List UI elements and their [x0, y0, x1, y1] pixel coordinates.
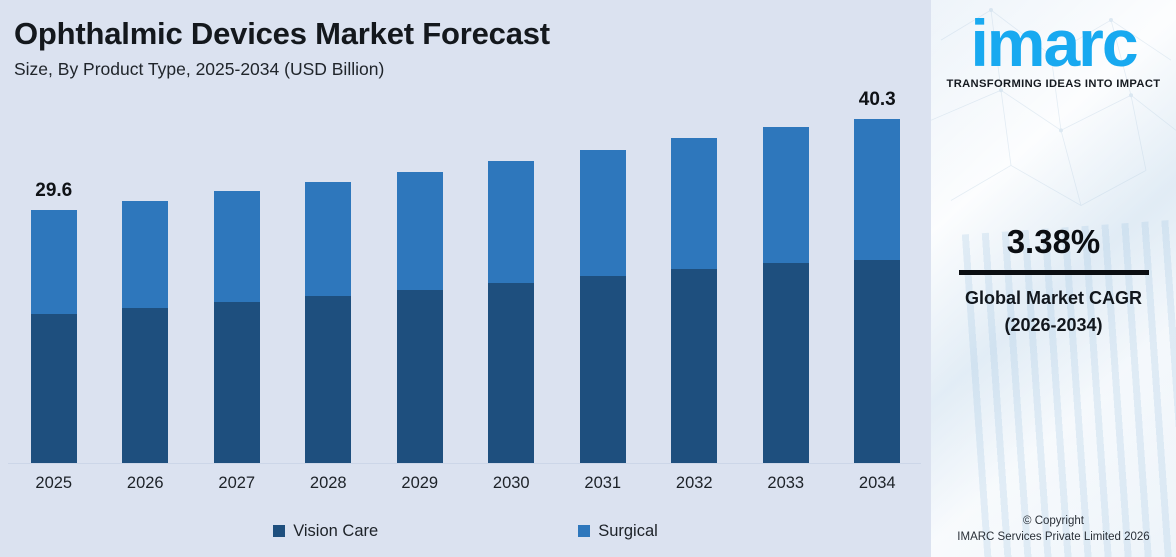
bar-segment-surgical[interactable]: [31, 210, 77, 314]
chart-title: Ophthalmic Devices Market Forecast: [14, 14, 904, 54]
bar-segment-surgical[interactable]: [214, 191, 260, 302]
bar-segment-vision-care[interactable]: [397, 290, 443, 463]
bar-value-label: 40.3: [859, 89, 896, 111]
bar-segment-vision-care[interactable]: [671, 269, 717, 463]
bar-segment-vision-care[interactable]: [580, 276, 626, 463]
bar-slot: [740, 100, 832, 463]
bar-slot: [466, 100, 558, 463]
legend-swatch-icon: [578, 525, 590, 537]
logo-tagline: TRANSFORMING IDEAS INTO IMPACT: [931, 76, 1176, 92]
cagr-callout: 3.38% Global Market CAGR (2026-2034): [931, 222, 1176, 339]
bar-segment-vision-care[interactable]: [488, 283, 534, 463]
legend-swatch-icon: [273, 525, 285, 537]
bar-segment-surgical[interactable]: [397, 172, 443, 290]
bar-group: 29.640.3: [0, 100, 931, 463]
bar-slot: [374, 100, 466, 463]
bar-stack[interactable]: [397, 172, 443, 463]
bar-segment-vision-care[interactable]: [763, 263, 809, 463]
x-axis-tick-2032: 2032: [649, 468, 741, 498]
bar-slot: [283, 100, 375, 463]
plot-area: 29.640.3: [0, 100, 931, 464]
cagr-divider: [959, 270, 1149, 275]
bar-segment-vision-care[interactable]: [854, 260, 900, 463]
x-axis-tick-2031: 2031: [557, 468, 649, 498]
bar-stack[interactable]: [122, 201, 168, 463]
logo-wordmark: imarc: [931, 6, 1176, 80]
bar-slot: 40.3: [832, 100, 924, 463]
bar-segment-surgical[interactable]: [488, 161, 534, 283]
bar-segment-vision-care[interactable]: [305, 296, 351, 463]
chart-header: Ophthalmic Devices Market Forecast Size,…: [14, 14, 904, 82]
bar-segment-surgical[interactable]: [122, 201, 168, 309]
legend-label: Surgical: [598, 522, 658, 541]
bar-slot: [557, 100, 649, 463]
x-axis-tick-2025: 2025: [8, 468, 100, 498]
x-axis-tick-2033: 2033: [740, 468, 832, 498]
bar-stack[interactable]: [854, 119, 900, 463]
bar-stack[interactable]: [305, 182, 351, 463]
x-axis-tick-2028: 2028: [283, 468, 375, 498]
bar-slot: [649, 100, 741, 463]
bar-stack[interactable]: [763, 127, 809, 463]
legend-item-vision-care[interactable]: Vision Care: [273, 516, 378, 546]
copyright-line1: © Copyright: [931, 513, 1176, 529]
x-axis-tick-2034: 2034: [832, 468, 924, 498]
x-axis-tick-2029: 2029: [374, 468, 466, 498]
imarc-logo: imarc TRANSFORMING IDEAS INTO IMPACT: [931, 6, 1176, 92]
x-axis-tick-labels: 2025202620272028202920302031203220332034: [0, 468, 931, 498]
bar-stack[interactable]: [488, 161, 534, 463]
cagr-caption-line2: (2026-2034): [931, 312, 1176, 339]
copyright-line2: IMARC Services Private Limited 2026: [931, 529, 1176, 545]
bar-segment-vision-care[interactable]: [31, 314, 77, 463]
legend-item-surgical[interactable]: Surgical: [578, 516, 658, 546]
bar-segment-surgical[interactable]: [305, 182, 351, 296]
copyright-notice: © Copyright IMARC Services Private Limit…: [931, 513, 1176, 545]
bar-slot: 29.6: [8, 100, 100, 463]
axis-baseline: [8, 463, 921, 464]
cagr-caption-line1: Global Market CAGR: [931, 285, 1176, 312]
chart-legend: Vision CareSurgical: [0, 516, 931, 546]
bar-stack[interactable]: [31, 210, 77, 463]
cagr-value: 3.38%: [931, 222, 1176, 262]
bar-stack[interactable]: [214, 191, 260, 463]
bar-segment-surgical[interactable]: [854, 119, 900, 260]
x-axis-tick-2030: 2030: [466, 468, 558, 498]
bar-segment-vision-care[interactable]: [214, 302, 260, 463]
bar-slot: [191, 100, 283, 463]
bar-segment-vision-care[interactable]: [122, 308, 168, 463]
x-axis-tick-2027: 2027: [191, 468, 283, 498]
bar-stack[interactable]: [580, 150, 626, 463]
chart-subtitle: Size, By Product Type, 2025-2034 (USD Bi…: [14, 56, 904, 82]
brand-panel: imarc TRANSFORMING IDEAS INTO IMPACT 3.3…: [931, 0, 1176, 557]
bar-segment-surgical[interactable]: [763, 127, 809, 263]
bar-stack[interactable]: [671, 138, 717, 463]
legend-label: Vision Care: [293, 522, 378, 541]
chart-screenshot: Ophthalmic Devices Market Forecast Size,…: [0, 0, 1176, 557]
bar-segment-surgical[interactable]: [580, 150, 626, 276]
bar-slot: [100, 100, 192, 463]
bar-value-label: 29.6: [35, 180, 72, 202]
bar-segment-surgical[interactable]: [671, 138, 717, 269]
chart-panel: Ophthalmic Devices Market Forecast Size,…: [0, 0, 931, 557]
x-axis-tick-2026: 2026: [100, 468, 192, 498]
